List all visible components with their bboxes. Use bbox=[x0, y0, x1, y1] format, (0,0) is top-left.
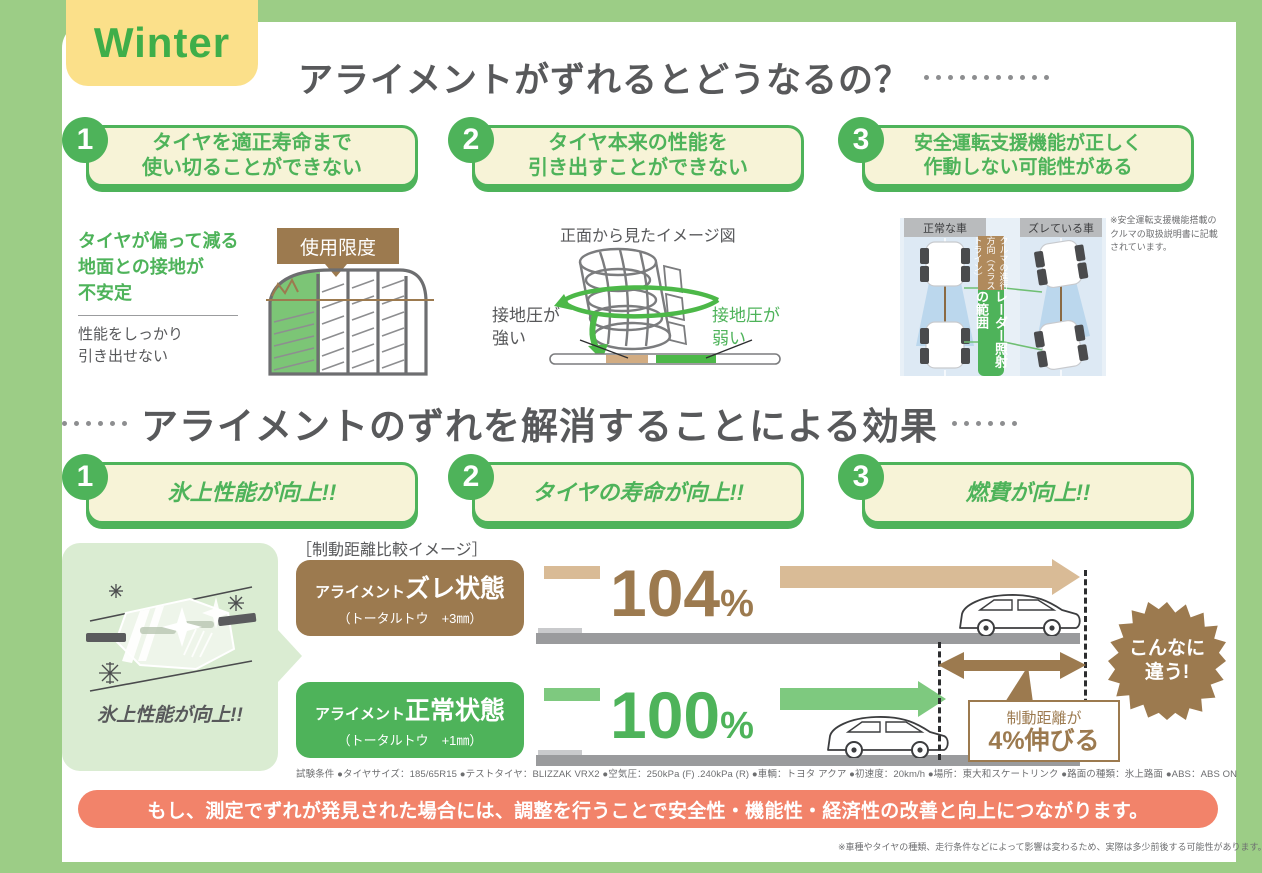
season-tab-label: Winter bbox=[94, 19, 230, 67]
benefit-item-3-body: 燃費が向上!! bbox=[862, 462, 1194, 524]
difference-callout: 制動距離が 4%伸びる bbox=[968, 700, 1120, 762]
tire-wear-highlight: タイヤが偏って減る 地面との接地が 不安定 bbox=[78, 228, 258, 306]
heading-dots-left bbox=[62, 421, 127, 426]
problem-item-1-line1: タイヤを適正寿命まで bbox=[142, 131, 362, 156]
chart-row-2-number: 100 bbox=[610, 678, 720, 752]
chart-row-1-name: アライメントズレ状態 bbox=[315, 569, 505, 605]
chart-row-1-value: 104% bbox=[610, 560, 754, 626]
heading-dots-right bbox=[924, 75, 1049, 80]
benefit-item-3: 3 燃費が向上!! bbox=[838, 462, 1194, 524]
tire-wear-sub-line1: 性能をしっかり bbox=[78, 324, 258, 346]
chart-row-2-value: 100% bbox=[610, 682, 754, 748]
ice-block-illustration bbox=[84, 569, 262, 699]
chart-row-1-car-icon bbox=[950, 588, 1084, 636]
worn-tire-illustration bbox=[258, 262, 448, 382]
chart-row-1-unit: % bbox=[720, 583, 754, 625]
page-disclaimer: ※車種やタイヤの種類、走行条件などによって影響は変わるため、実際は多少前後する可… bbox=[838, 840, 1262, 853]
chart-caption: ［制動距離比較イメージ］ bbox=[296, 536, 488, 560]
chart-row-2-unit: % bbox=[720, 705, 754, 747]
chart-row-1-arrow bbox=[780, 566, 1080, 588]
season-tab: Winter bbox=[66, 0, 258, 86]
tire-wear-sub: 性能をしっかり 引き出せない bbox=[78, 324, 258, 368]
problem-item-2-body: タイヤ本来の性能を 引き出すことができない bbox=[472, 125, 804, 187]
problem-item-3-line1: 安全運転支援機能が正しく bbox=[914, 132, 1142, 156]
heading-dots-right-2 bbox=[952, 421, 1017, 426]
thrust-line-label: クルマの進行方向（スラストライン） bbox=[978, 236, 1004, 290]
infographic-page: Winter アライメントがずれるとどうなるの？ 1 タイヤを適正寿命まで 使い… bbox=[0, 0, 1262, 873]
chart-row-1-arrow-stem bbox=[780, 566, 1056, 588]
benefit-item-3-number: 3 bbox=[838, 454, 884, 500]
benefit-item-1: 1 氷上性能が向上!! bbox=[62, 462, 418, 524]
problem-item-2: 2 タイヤ本来の性能を 引き出すことができない bbox=[448, 125, 804, 187]
ice-panel-label: 氷上性能が向上!! bbox=[62, 700, 278, 727]
tire-wear-text: タイヤが偏って減る 地面との接地が 不安定 性能をしっかり 引き出せない bbox=[78, 228, 258, 368]
problem-item-2-line2: 引き出すことができない bbox=[528, 156, 748, 181]
callout-line1: 制動距離が bbox=[1006, 707, 1081, 728]
section2-heading-text: アライメントのずれを解消することによる効果 bbox=[141, 396, 938, 450]
problem-item-2-number: 2 bbox=[448, 117, 494, 163]
benefit-item-1-body: 氷上性能が向上!! bbox=[86, 462, 418, 524]
chart-row-2-arrow bbox=[780, 688, 950, 710]
benefit-item-2-number: 2 bbox=[448, 454, 494, 500]
tire-wear-hl-line1: タイヤが偏って減る bbox=[78, 228, 258, 254]
chart-row-2-car-icon bbox=[818, 710, 952, 758]
radar-footnote: ※安全運転支援機能搭載のクルマの取扱説明書に記載されています。 bbox=[1110, 214, 1220, 255]
problem-item-3-number: 3 bbox=[838, 117, 884, 163]
chart-row-1-cone-icon bbox=[544, 588, 576, 630]
chart-row-1-sublabel: （トータルトウ +3㎜） bbox=[338, 608, 483, 627]
chart-row-1-number: 104 bbox=[610, 556, 720, 630]
radar-center-strip: クルマの進行方向（スラストライン） レーダー照射の範囲 bbox=[978, 236, 1004, 376]
chart-row-1-label: アライメントズレ状態 （トータルトウ +3㎜） bbox=[296, 560, 524, 636]
benefit-item-2-body: タイヤの寿命が向上!! bbox=[472, 462, 804, 524]
ice-performance-panel: 氷上性能が向上!! bbox=[62, 543, 278, 771]
chart-row-2-marker bbox=[544, 688, 600, 701]
chart-row-2-arrow-stem bbox=[780, 688, 922, 710]
tire-wear-hl-line3: 不安定 bbox=[78, 280, 258, 306]
emphasis-burst: こんなに 違う! bbox=[1108, 602, 1226, 720]
problem-item-3: 3 安全運転支援機能が正しく 作動しない可能性がある bbox=[838, 125, 1194, 187]
chart-row-2-sublabel: （トータルトウ +1㎜） bbox=[338, 730, 483, 749]
test-conditions: 試験条件 ●タイヤサイズ：185/65R15 ●テストタイヤ：BLIZZAK V… bbox=[296, 766, 1237, 780]
tire-wear-hl-line2: 地面との接地が bbox=[78, 254, 258, 280]
radar-range-label: レーダー照射の範囲 bbox=[978, 290, 1004, 376]
tire-wear-sub-line2: 引き出せない bbox=[78, 346, 258, 368]
problem-item-3-line2: 作動しない可能性がある bbox=[914, 156, 1142, 180]
section1-heading: アライメントがずれるとどうなるの？ bbox=[298, 52, 1049, 103]
benefit-item-2: 2 タイヤの寿命が向上!! bbox=[448, 462, 804, 524]
problem-item-1-line2: 使い切ることができない bbox=[142, 156, 362, 181]
divider-rule bbox=[78, 315, 238, 316]
chart-row-2-label: アライメント正常状態 （トータルトウ +1㎜） bbox=[296, 682, 524, 758]
chart-row-2-cone-icon bbox=[544, 710, 576, 752]
callout-line2: 4%伸びる bbox=[988, 728, 1099, 756]
benefit-item-1-number: 1 bbox=[62, 454, 108, 500]
burst-text: こんなに 違う! bbox=[1129, 637, 1205, 685]
problem-item-1-number: 1 bbox=[62, 117, 108, 163]
section1-heading-text: アライメントがずれるとどうなるの？ bbox=[298, 52, 910, 103]
usage-limit-label: 使用限度 bbox=[277, 228, 399, 264]
chart-row-2-name: アライメント正常状態 bbox=[315, 691, 505, 727]
summary-banner: もし、測定でずれが発見された場合には、調整を行うことで安全性・機能性・経済性の改… bbox=[78, 790, 1218, 828]
burst-line1: こんなに bbox=[1129, 637, 1205, 661]
tilted-tire-illustration bbox=[540, 240, 790, 370]
problem-item-2-line1: タイヤ本来の性能を bbox=[528, 131, 748, 156]
section2-heading: アライメントのずれを解消することによる効果 bbox=[62, 396, 1017, 450]
burst-line2: 違う! bbox=[1129, 661, 1205, 685]
problem-item-1: 1 タイヤを適正寿命まで 使い切ることができない bbox=[62, 125, 418, 187]
ice-panel-arrow-icon bbox=[278, 630, 302, 682]
problem-item-3-body: 安全運転支援機能が正しく 作動しない可能性がある bbox=[862, 125, 1194, 187]
problem-item-1-body: タイヤを適正寿命まで 使い切ることができない bbox=[86, 125, 418, 187]
chart-row-1-marker bbox=[544, 566, 600, 579]
